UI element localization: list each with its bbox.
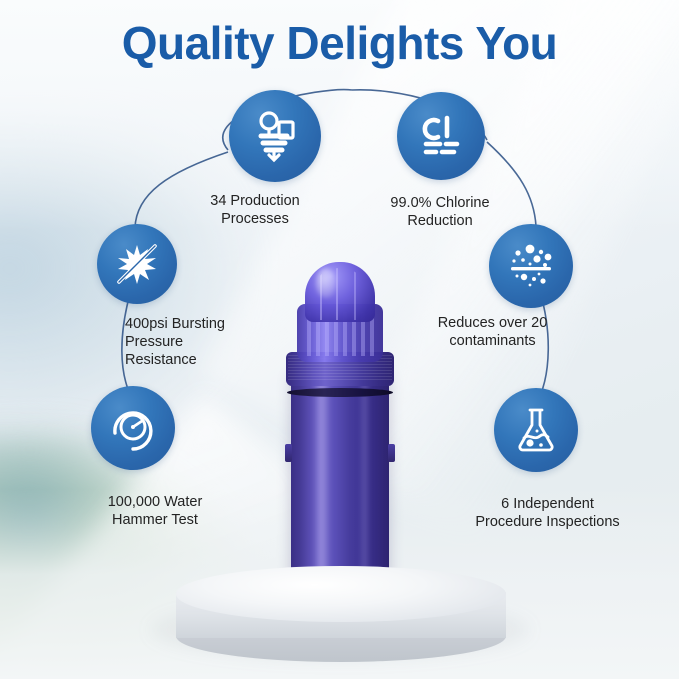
pressure-gauge-icon [91, 386, 175, 470]
feature-bursting-pressure[interactable] [97, 224, 177, 304]
chlorine-reduction-icon [397, 92, 485, 180]
feature-production-processes[interactable] [229, 90, 321, 182]
page-title: Quality Delights You [0, 16, 679, 70]
feature-procedure-inspections[interactable] [494, 388, 578, 472]
feature-chlorine-reduction[interactable] [397, 92, 485, 180]
filter-tab-right [388, 444, 395, 462]
feature-label-production-processes: 34 Production Processes [175, 192, 335, 228]
feature-label-bursting-pressure: 400psi Bursting Pressure Resistance [125, 315, 285, 369]
water-filter-cartridge [272, 248, 408, 600]
burst-resistance-icon [97, 224, 177, 304]
filter-o-ring [287, 388, 393, 397]
filter-body [291, 366, 389, 598]
feature-contaminant-reduction[interactable] [489, 224, 573, 308]
filter-body-highlight-left [314, 368, 330, 596]
feature-label-procedure-inspections: 6 Independent Procedure Inspections [455, 495, 640, 531]
contaminant-particles-icon [489, 224, 573, 308]
promo-infographic: Quality Delights You 34 Production Proc [0, 0, 679, 679]
lab-flask-icon [494, 388, 578, 472]
filter-tab-left [285, 444, 292, 462]
production-process-icon [229, 90, 321, 182]
filter-cap-highlight [316, 268, 336, 298]
product-pedestal [176, 566, 506, 652]
pedestal-top [176, 566, 506, 622]
feature-label-contaminant-reduction: Reduces over 20 contaminants [410, 314, 575, 350]
feature-water-hammer-test[interactable] [91, 386, 175, 470]
filter-body-highlight-right [360, 373, 369, 593]
feature-label-water-hammer-test: 100,000 Water Hammer Test [70, 493, 240, 529]
